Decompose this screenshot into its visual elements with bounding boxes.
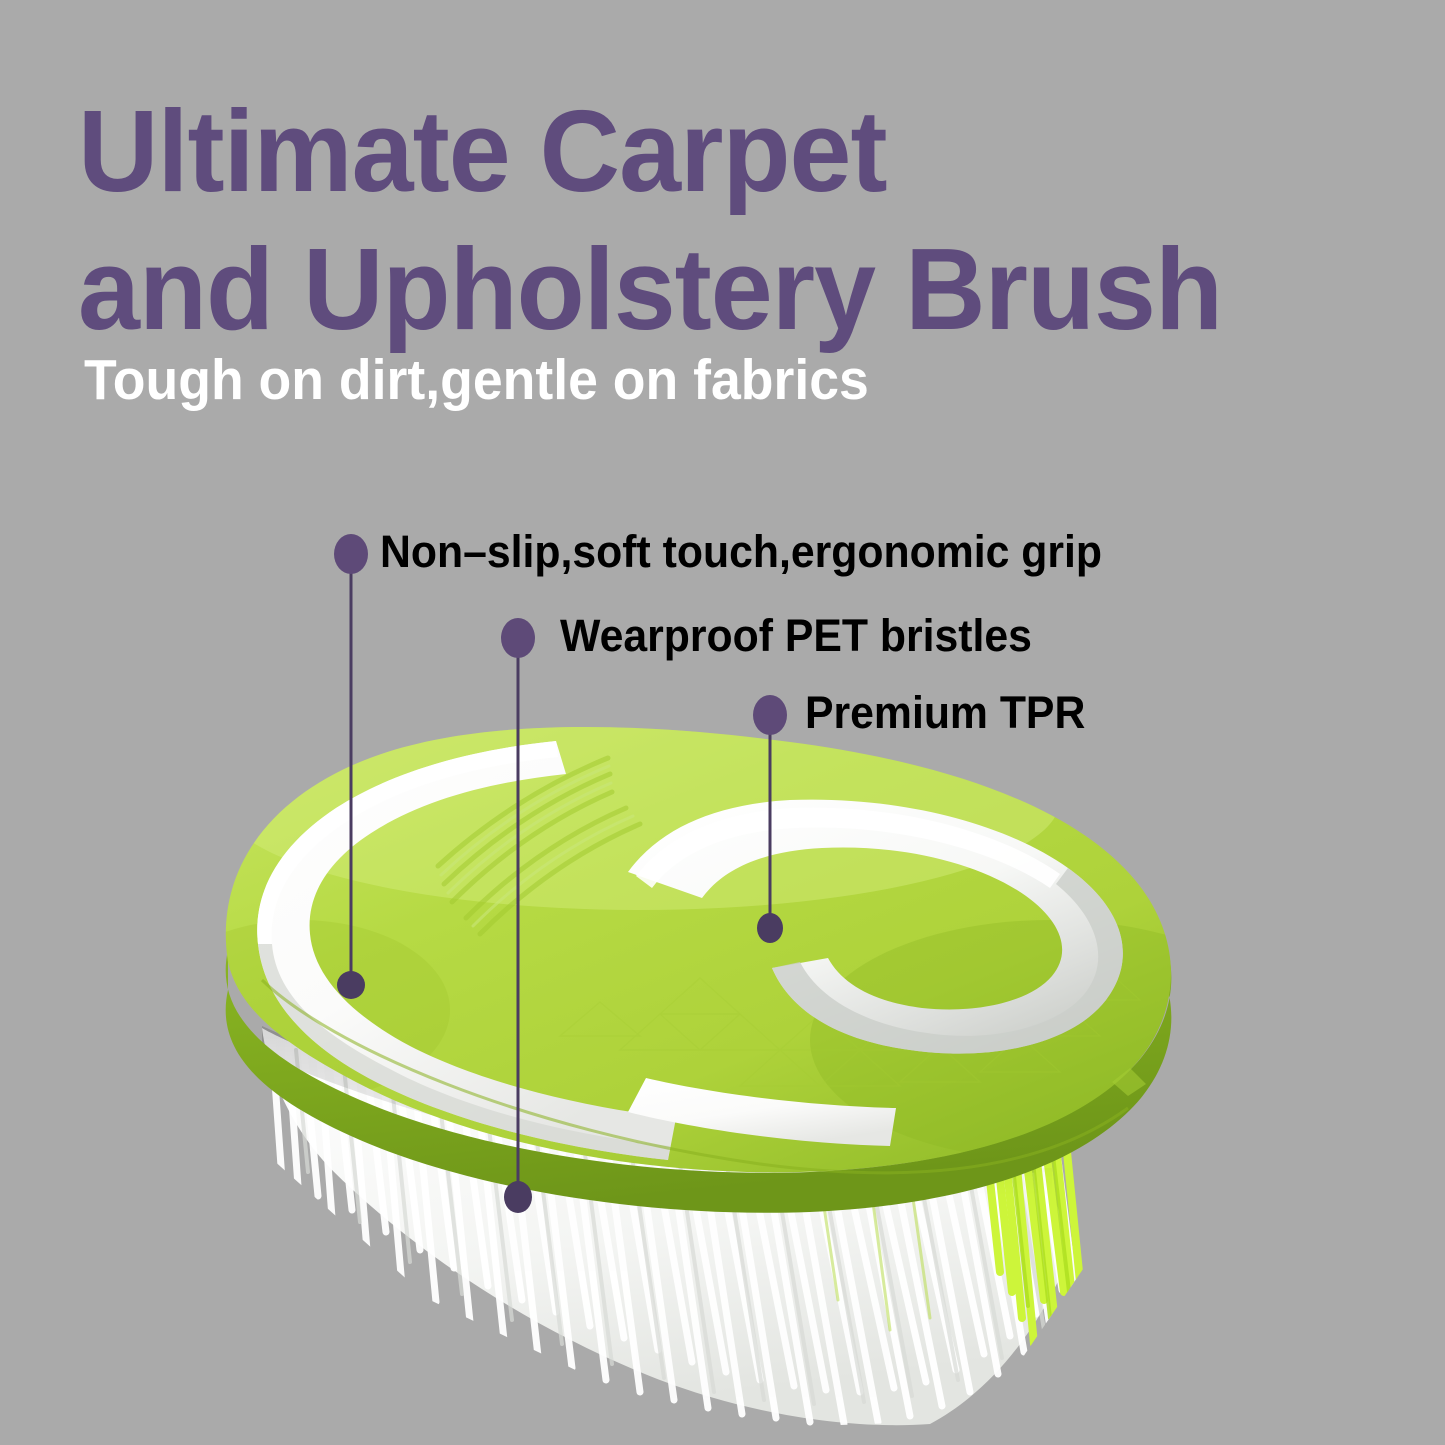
headline-line-1: Ultimate Carpet	[78, 82, 1336, 220]
callout-label-tpr: Premium TPR	[805, 688, 1085, 738]
headline-line-2: and Upholstery Brush	[78, 220, 1336, 358]
subtitle-tagline: Tough on dirt,gentle on fabrics	[84, 348, 869, 412]
callout-label-grip: Non–slip,soft touch,ergonomic grip	[380, 527, 1102, 577]
headline-block: Ultimate Carpet and Upholstery Brush	[78, 82, 1388, 358]
product-infographic: Ultimate Carpet and Upholstery Brush Tou…	[0, 0, 1445, 1445]
callout-label-bristles: Wearproof PET bristles	[560, 611, 1032, 661]
